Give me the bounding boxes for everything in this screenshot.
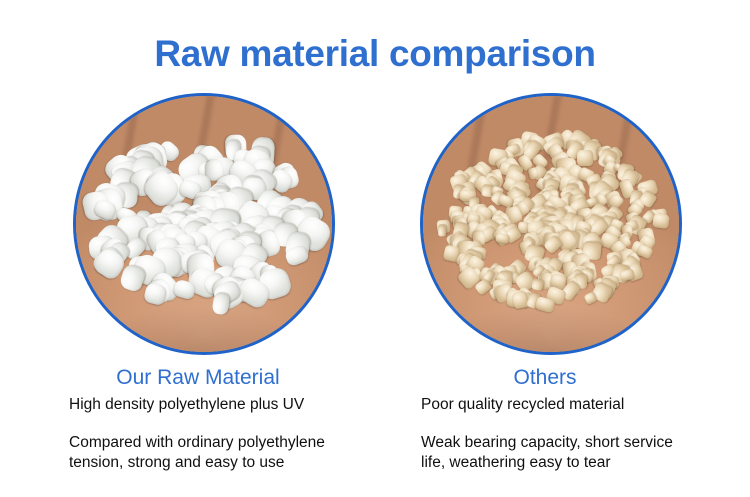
caption-heading-our-raw-material: Our Raw Material <box>23 365 373 390</box>
pellet <box>652 213 670 229</box>
white-pellet-pile <box>86 127 322 316</box>
comparison-column-others: Others Poor quality recycled material We… <box>370 93 720 493</box>
product-photo-others <box>420 93 682 355</box>
product-photo-our-raw-material <box>73 93 335 355</box>
comparison-column-our-raw-material: Our Raw Material High density polyethyle… <box>23 93 373 493</box>
caption-body-others: Weak bearing capacity, short service lif… <box>421 433 750 474</box>
pellet <box>438 224 446 237</box>
page-title: Raw material comparison <box>0 34 750 75</box>
caption-heading-others: Others <box>370 365 720 390</box>
beige-pellet-pile <box>433 127 669 316</box>
caption-subtitle-others: Poor quality recycled material <box>421 395 741 414</box>
pellet <box>531 278 544 291</box>
caption-body-our-raw-material: Compared with ordinary polyethylene tens… <box>69 433 399 474</box>
caption-subtitle-our-raw-material: High density polyethylene plus UV <box>69 395 389 414</box>
photo-inner <box>76 96 332 352</box>
pellet <box>577 150 594 166</box>
photo-inner <box>423 96 679 352</box>
pellet <box>495 233 509 244</box>
comparison-graphic: Raw material comparison Our Raw Material… <box>0 0 750 497</box>
